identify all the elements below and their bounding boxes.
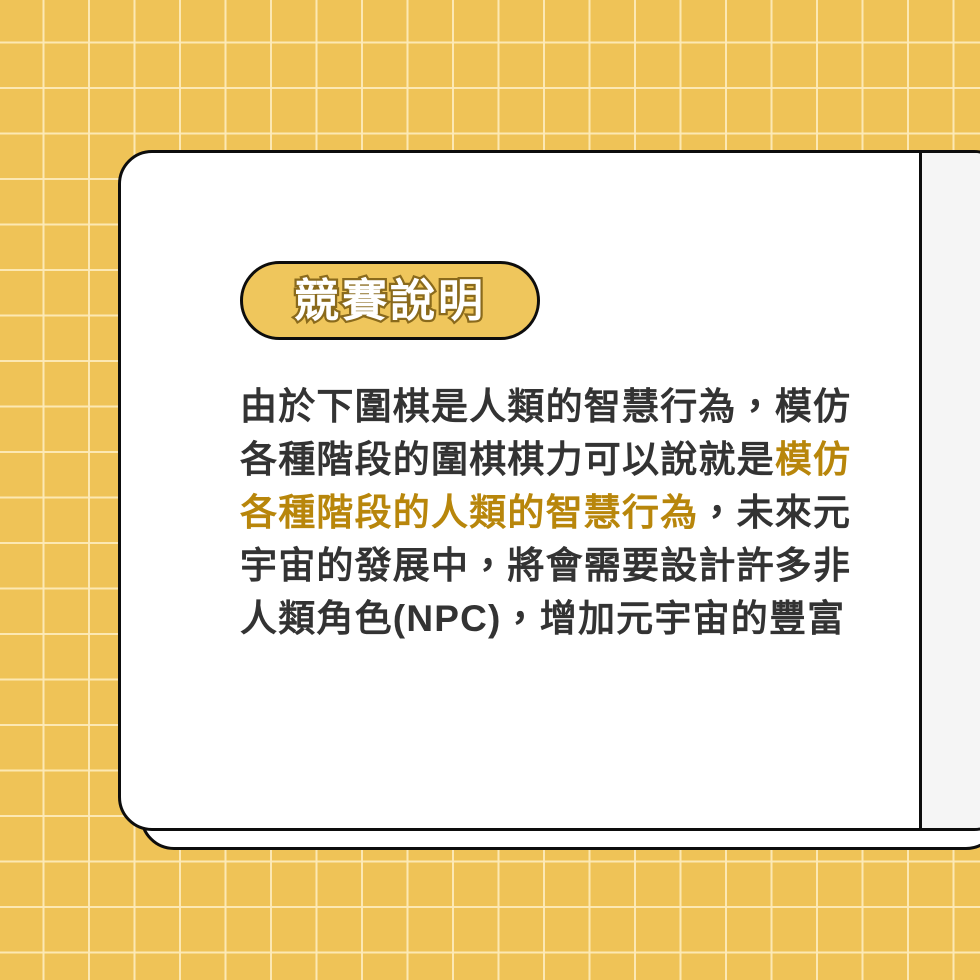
body-text-highlight: 模仿: [775, 439, 851, 480]
card-side-panel: [919, 153, 980, 828]
body-text-run: 各種階段的圍棋棋力可以說就是: [240, 439, 775, 480]
slide-canvas: 競賽說明 由於下圍棋是人類的智慧行為，模仿各種階段的圍棋棋力可以說就是模仿各種階…: [0, 0, 980, 980]
card-content: 競賽說明 由於下圍棋是人類的智慧行為，模仿各種階段的圍棋棋力可以說就是模仿各種階…: [240, 261, 900, 645]
body-text-run: 宇宙的發展中，將會需要設計許多非: [240, 545, 851, 586]
body-line: 人類角色(NPC)，增加元宇宙的豐富: [240, 592, 900, 645]
section-title-badge: 競賽說明: [240, 261, 540, 340]
body-line: 各種階段的人類的智慧行為，未來元: [240, 486, 900, 539]
body-text-run: 由於下圍棋是人類的智慧行為，模仿: [240, 386, 851, 427]
body-text-run: 人類角色(NPC)，增加元宇宙的豐富: [240, 598, 845, 639]
body-text-highlight: 各種階段的人類的智慧行為: [240, 492, 698, 533]
body-line: 宇宙的發展中，將會需要設計許多非: [240, 539, 900, 592]
content-card: 競賽說明 由於下圍棋是人類的智慧行為，模仿各種階段的圍棋棋力可以說就是模仿各種階…: [118, 150, 980, 831]
body-paragraph: 由於下圍棋是人類的智慧行為，模仿各種階段的圍棋棋力可以說就是模仿各種階段的人類的…: [240, 380, 900, 645]
body-line: 各種階段的圍棋棋力可以說就是模仿: [240, 433, 900, 486]
body-line: 由於下圍棋是人類的智慧行為，模仿: [240, 380, 900, 433]
body-text-run: ，未來元: [698, 492, 851, 533]
section-title-label: 競賽說明: [294, 278, 486, 323]
